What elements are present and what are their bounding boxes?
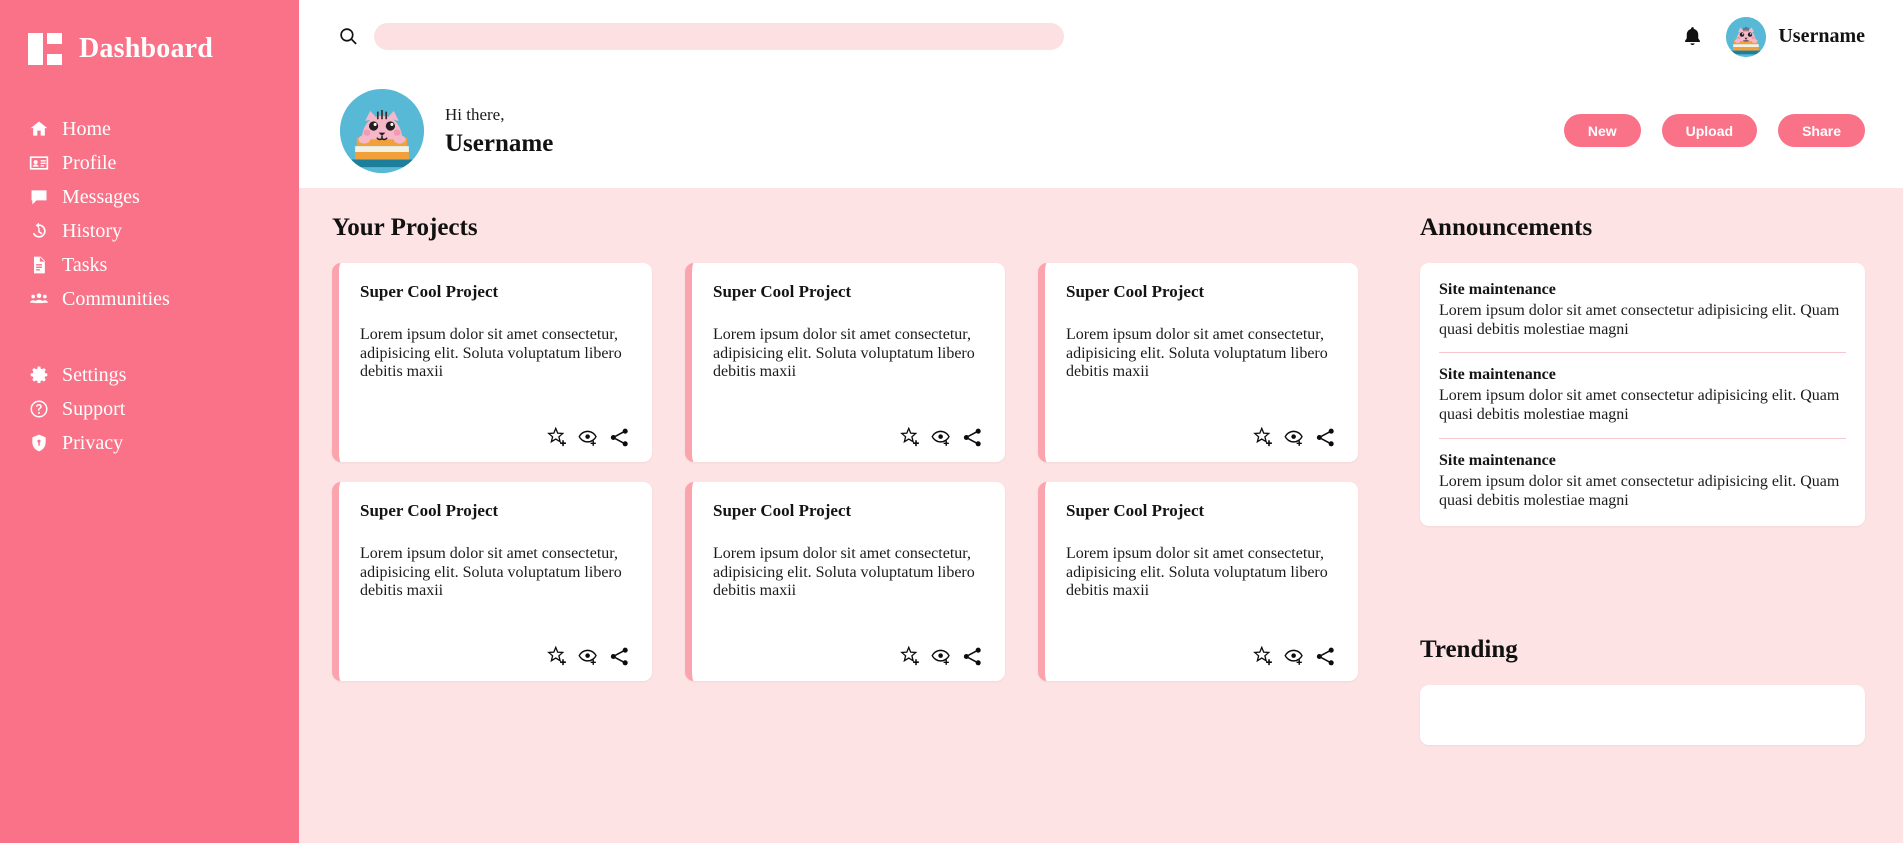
project-title: Super Cool Project (713, 282, 983, 302)
chat-bubble-icon (28, 186, 50, 208)
question-circle-icon (28, 398, 50, 420)
announcement-item[interactable]: Site maintenance Lorem ipsum dolor sit a… (1439, 366, 1846, 438)
greeting-username: Username (445, 128, 553, 159)
projects-grid: Super Cool Project Lorem ipsum dolor sit… (332, 263, 1394, 681)
project-card[interactable]: Super Cool Project Lorem ipsum dolor sit… (1038, 482, 1358, 681)
sidebar-item-home[interactable]: Home (0, 112, 299, 146)
trending-heading: Trending (1420, 636, 1865, 664)
id-card-icon (28, 152, 50, 174)
project-card[interactable]: Super Cool Project Lorem ipsum dolor sit… (685, 482, 1005, 681)
search-icon[interactable] (338, 26, 359, 47)
share-nodes-icon[interactable] (609, 427, 630, 448)
project-description: Lorem ipsum dolor sit amet consectetur, … (713, 326, 983, 382)
sidebar-item-privacy[interactable]: Privacy (0, 426, 299, 460)
star-plus-icon[interactable] (547, 427, 568, 448)
cat-burger-avatar (340, 89, 424, 173)
announcement-body: Lorem ipsum dolor sit amet consectetur a… (1439, 302, 1846, 339)
sidebar-item-label: Privacy (62, 433, 123, 453)
share-nodes-icon[interactable] (609, 646, 630, 667)
sidebar-item-messages[interactable]: Messages (0, 180, 299, 214)
share-nodes-icon[interactable] (1315, 646, 1336, 667)
project-card-actions (360, 646, 630, 667)
clock-rotate-left-icon (28, 220, 50, 242)
star-plus-icon[interactable] (1253, 427, 1274, 448)
project-title: Super Cool Project (360, 282, 630, 302)
shield-keyhole-icon (28, 432, 50, 454)
announcement-title: Site maintenance (1439, 281, 1846, 299)
share-nodes-icon[interactable] (962, 646, 983, 667)
eye-plus-icon[interactable] (1284, 427, 1305, 448)
eye-plus-icon[interactable] (578, 646, 599, 667)
home-icon (28, 118, 50, 140)
project-card[interactable]: Super Cool Project Lorem ipsum dolor sit… (332, 482, 652, 681)
sidebar-item-label: Tasks (62, 255, 107, 275)
project-card-actions (1066, 646, 1336, 667)
projects-section: Your Projects Super Cool Project Lorem i… (299, 188, 1394, 843)
project-card-actions (1066, 427, 1336, 448)
sidebar-item-label: History (62, 221, 122, 241)
dashboard-grid-icon (28, 33, 62, 65)
project-card-actions (713, 646, 983, 667)
project-description: Lorem ipsum dolor sit amet consectetur, … (713, 545, 983, 601)
announcement-title: Site maintenance (1439, 366, 1846, 384)
sidebar-item-label: Communities (62, 289, 170, 309)
project-card-actions (360, 427, 630, 448)
eye-plus-icon[interactable] (578, 427, 599, 448)
sidebar-item-profile[interactable]: Profile (0, 146, 299, 180)
topbar-right: Username (1681, 17, 1865, 57)
eye-plus-icon[interactable] (1284, 646, 1305, 667)
main-region: Username (299, 0, 1903, 843)
star-plus-icon[interactable] (1253, 646, 1274, 667)
divider (1439, 352, 1846, 353)
search-bar (338, 23, 1064, 50)
trending-section: Trending (1420, 636, 1865, 745)
sidebar-item-label: Home (62, 119, 111, 139)
star-plus-icon[interactable] (547, 646, 568, 667)
announcement-body: Lorem ipsum dolor sit amet consectetur a… (1439, 387, 1846, 424)
sidebar-group-secondary: Settings Support Privacy (0, 358, 299, 460)
project-card[interactable]: Super Cool Project Lorem ipsum dolor sit… (685, 263, 1005, 462)
project-title: Super Cool Project (713, 501, 983, 521)
upload-button[interactable]: Upload (1662, 114, 1757, 147)
cat-burger-avatar (1726, 17, 1766, 57)
sidebar-group-primary: Home Profile Messages (0, 112, 299, 316)
sidebar-nav: Home Profile Messages (0, 112, 299, 460)
file-lines-icon (28, 254, 50, 276)
brand-title: Dashboard (79, 33, 213, 65)
greeting-salutation: Hi there, (445, 102, 553, 128)
sidebar-item-settings[interactable]: Settings (0, 358, 299, 392)
sidebar-item-history[interactable]: History (0, 214, 299, 248)
announcement-title: Site maintenance (1439, 452, 1846, 470)
right-column: Announcements Site maintenance Lorem ips… (1394, 188, 1903, 843)
share-nodes-icon[interactable] (1315, 427, 1336, 448)
announcement-item[interactable]: Site maintenance Lorem ipsum dolor sit a… (1439, 281, 1846, 353)
project-description: Lorem ipsum dolor sit amet consectetur, … (360, 545, 630, 601)
content-area: Your Projects Super Cool Project Lorem i… (299, 188, 1903, 843)
trending-panel[interactable] (1420, 685, 1865, 745)
announcement-item[interactable]: Site maintenance Lorem ipsum dolor sit a… (1439, 452, 1846, 510)
sidebar-item-support[interactable]: Support (0, 392, 299, 426)
sidebar-item-tasks[interactable]: Tasks (0, 248, 299, 282)
announcement-body: Lorem ipsum dolor sit amet consectetur a… (1439, 473, 1846, 510)
sidebar-item-label: Support (62, 399, 125, 419)
sidebar-item-label: Profile (62, 153, 116, 173)
share-button[interactable]: Share (1778, 114, 1865, 147)
project-description: Lorem ipsum dolor sit amet consectetur, … (1066, 545, 1336, 601)
project-title: Super Cool Project (1066, 282, 1336, 302)
header-actions: New Upload Share (1564, 114, 1865, 147)
project-card[interactable]: Super Cool Project Lorem ipsum dolor sit… (1038, 263, 1358, 462)
star-plus-icon[interactable] (900, 427, 921, 448)
project-description: Lorem ipsum dolor sit amet consectetur, … (360, 326, 630, 382)
project-card[interactable]: Super Cool Project Lorem ipsum dolor sit… (332, 263, 652, 462)
gear-icon (28, 364, 50, 386)
eye-plus-icon[interactable] (931, 427, 952, 448)
greeting-text: Hi there, Username (445, 102, 553, 159)
page-title: Your Projects (332, 214, 1394, 242)
star-plus-icon[interactable] (900, 646, 921, 667)
new-button[interactable]: New (1564, 114, 1641, 147)
brand[interactable]: Dashboard (0, 26, 299, 72)
user-menu[interactable]: Username (1726, 17, 1865, 57)
announcements-heading: Announcements (1420, 214, 1865, 242)
project-title: Super Cool Project (1066, 501, 1336, 521)
sidebar-item-label: Messages (62, 187, 140, 207)
topbar: Username (299, 0, 1903, 73)
project-card-actions (713, 427, 983, 448)
project-description: Lorem ipsum dolor sit amet consectetur, … (1066, 326, 1336, 382)
sidebar-item-label: Settings (62, 365, 126, 385)
bell-icon[interactable] (1681, 25, 1704, 48)
share-nodes-icon[interactable] (962, 427, 983, 448)
sidebar: Dashboard Home Profile (0, 0, 299, 843)
dashboard-app: Dashboard Home Profile (0, 0, 1903, 843)
greeting-user: Hi there, Username (340, 89, 553, 173)
search-input[interactable] (374, 23, 1064, 50)
announcements-panel: Site maintenance Lorem ipsum dolor sit a… (1420, 263, 1865, 526)
greeting-band: Hi there, Username New Upload Share (299, 73, 1903, 188)
project-title: Super Cool Project (360, 501, 630, 521)
sidebar-item-communities[interactable]: Communities (0, 282, 299, 316)
users-group-icon (28, 288, 50, 310)
eye-plus-icon[interactable] (931, 646, 952, 667)
divider (1439, 438, 1846, 439)
user-name: Username (1778, 25, 1865, 48)
